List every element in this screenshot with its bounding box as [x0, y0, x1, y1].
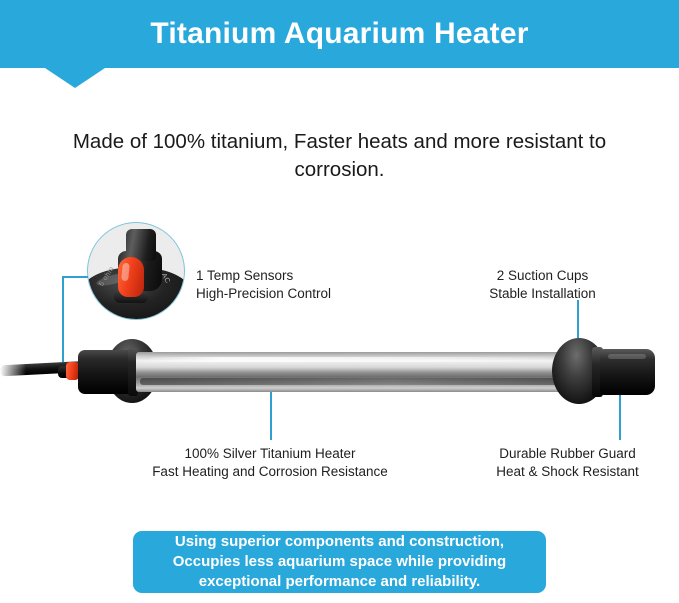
footer-text: Using superior components and constructi… [173, 532, 506, 592]
footer-callout-box: Using superior components and constructi… [133, 531, 546, 593]
magnifier-circle: 5 ohm AC [87, 222, 185, 320]
subtitle-text: Made of 100% titanium, Faster heats and … [60, 128, 619, 184]
callout-suction-cups: 2 Suction Cups Stable Installation [455, 267, 630, 302]
callout-temp-sensor: 1 Temp Sensors High-Precision Control [196, 267, 366, 302]
infographic-root: Titanium Aquarium Heater Made of 100% ti… [0, 0, 679, 603]
tube-highlight [150, 357, 550, 362]
page-title: Titanium Aquarium Heater [0, 0, 679, 68]
product-image-heater [0, 330, 679, 410]
callout-titanium-heater: 100% Silver Titanium Heater Fast Heating… [105, 445, 435, 480]
callout-rubber-guard: Durable Rubber Guard Heat & Shock Resist… [470, 445, 665, 480]
rubber-guard-highlight [608, 354, 646, 359]
header-notch-triangle [45, 68, 105, 88]
leader-line-magnifier-horizontal [62, 276, 88, 278]
cord-fade-overlay [0, 360, 26, 378]
tube-shadow [140, 378, 558, 385]
